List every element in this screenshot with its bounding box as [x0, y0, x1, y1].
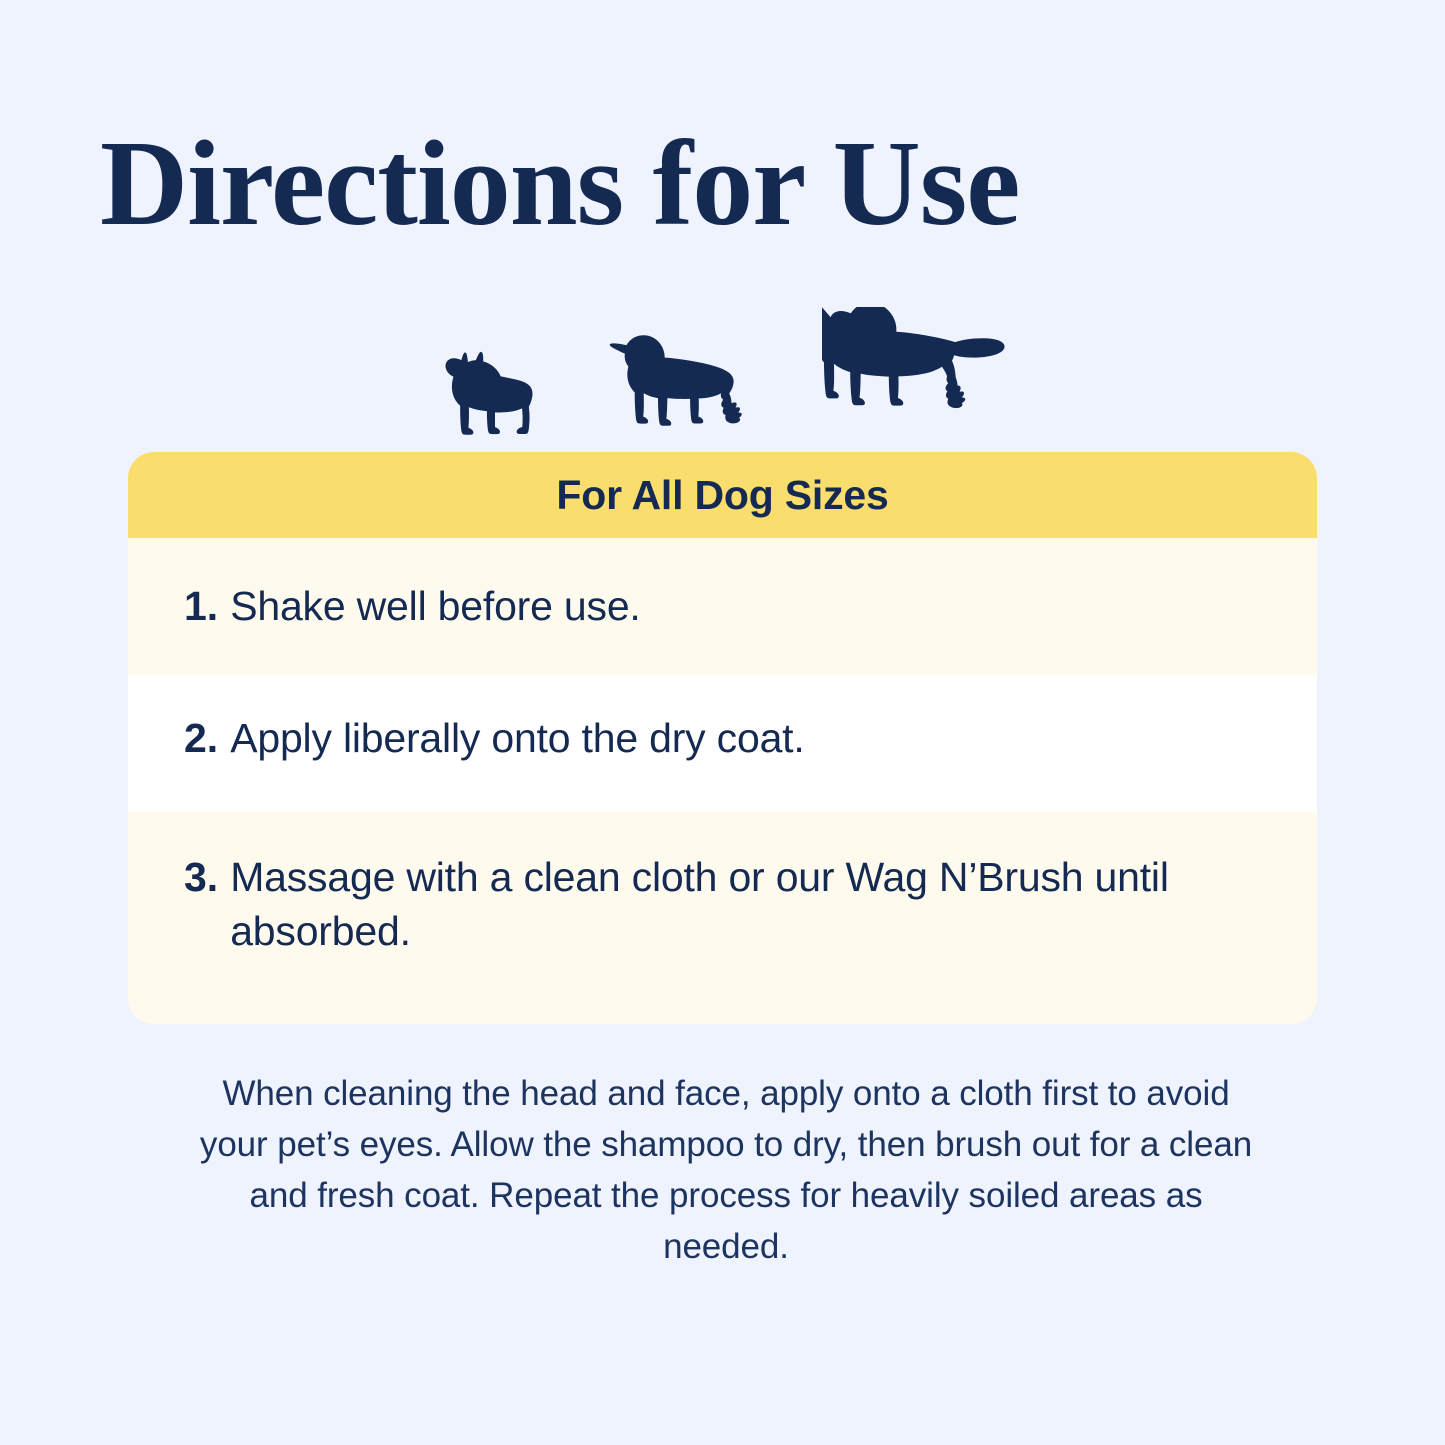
large-dog-silhouette-icon — [822, 307, 1008, 435]
footer-note: When cleaning the head and face, apply o… — [196, 1068, 1256, 1272]
directions-for-use-page: Directions for Use For All Dog Sizes — [0, 0, 1445, 1445]
step-number: 2. — [184, 711, 218, 765]
step-row: 2. Apply liberally onto the dry coat. — [128, 675, 1317, 812]
dog-size-illustrations — [0, 295, 1445, 435]
steps-list: 1. Shake well before use. 2. Apply liber… — [128, 538, 1317, 1024]
card-header-title: For All Dog Sizes — [556, 472, 888, 519]
card-header: For All Dog Sizes — [128, 452, 1317, 538]
step-row: 1. Shake well before use. — [128, 538, 1317, 675]
step-text: Massage with a clean cloth or our Wag N’… — [230, 850, 1259, 958]
directions-card: For All Dog Sizes 1. Shake well before u… — [128, 452, 1317, 1024]
small-dog-silhouette-icon — [438, 349, 542, 435]
step-text: Apply liberally onto the dry coat. — [230, 711, 804, 765]
step-number: 1. — [184, 579, 218, 633]
step-row: 3. Massage with a clean cloth or our Wag… — [128, 812, 1317, 1024]
step-text: Shake well before use. — [230, 579, 640, 633]
step-number: 3. — [184, 850, 218, 904]
page-title: Directions for Use — [100, 118, 1019, 250]
medium-dog-silhouette-icon — [608, 333, 756, 435]
